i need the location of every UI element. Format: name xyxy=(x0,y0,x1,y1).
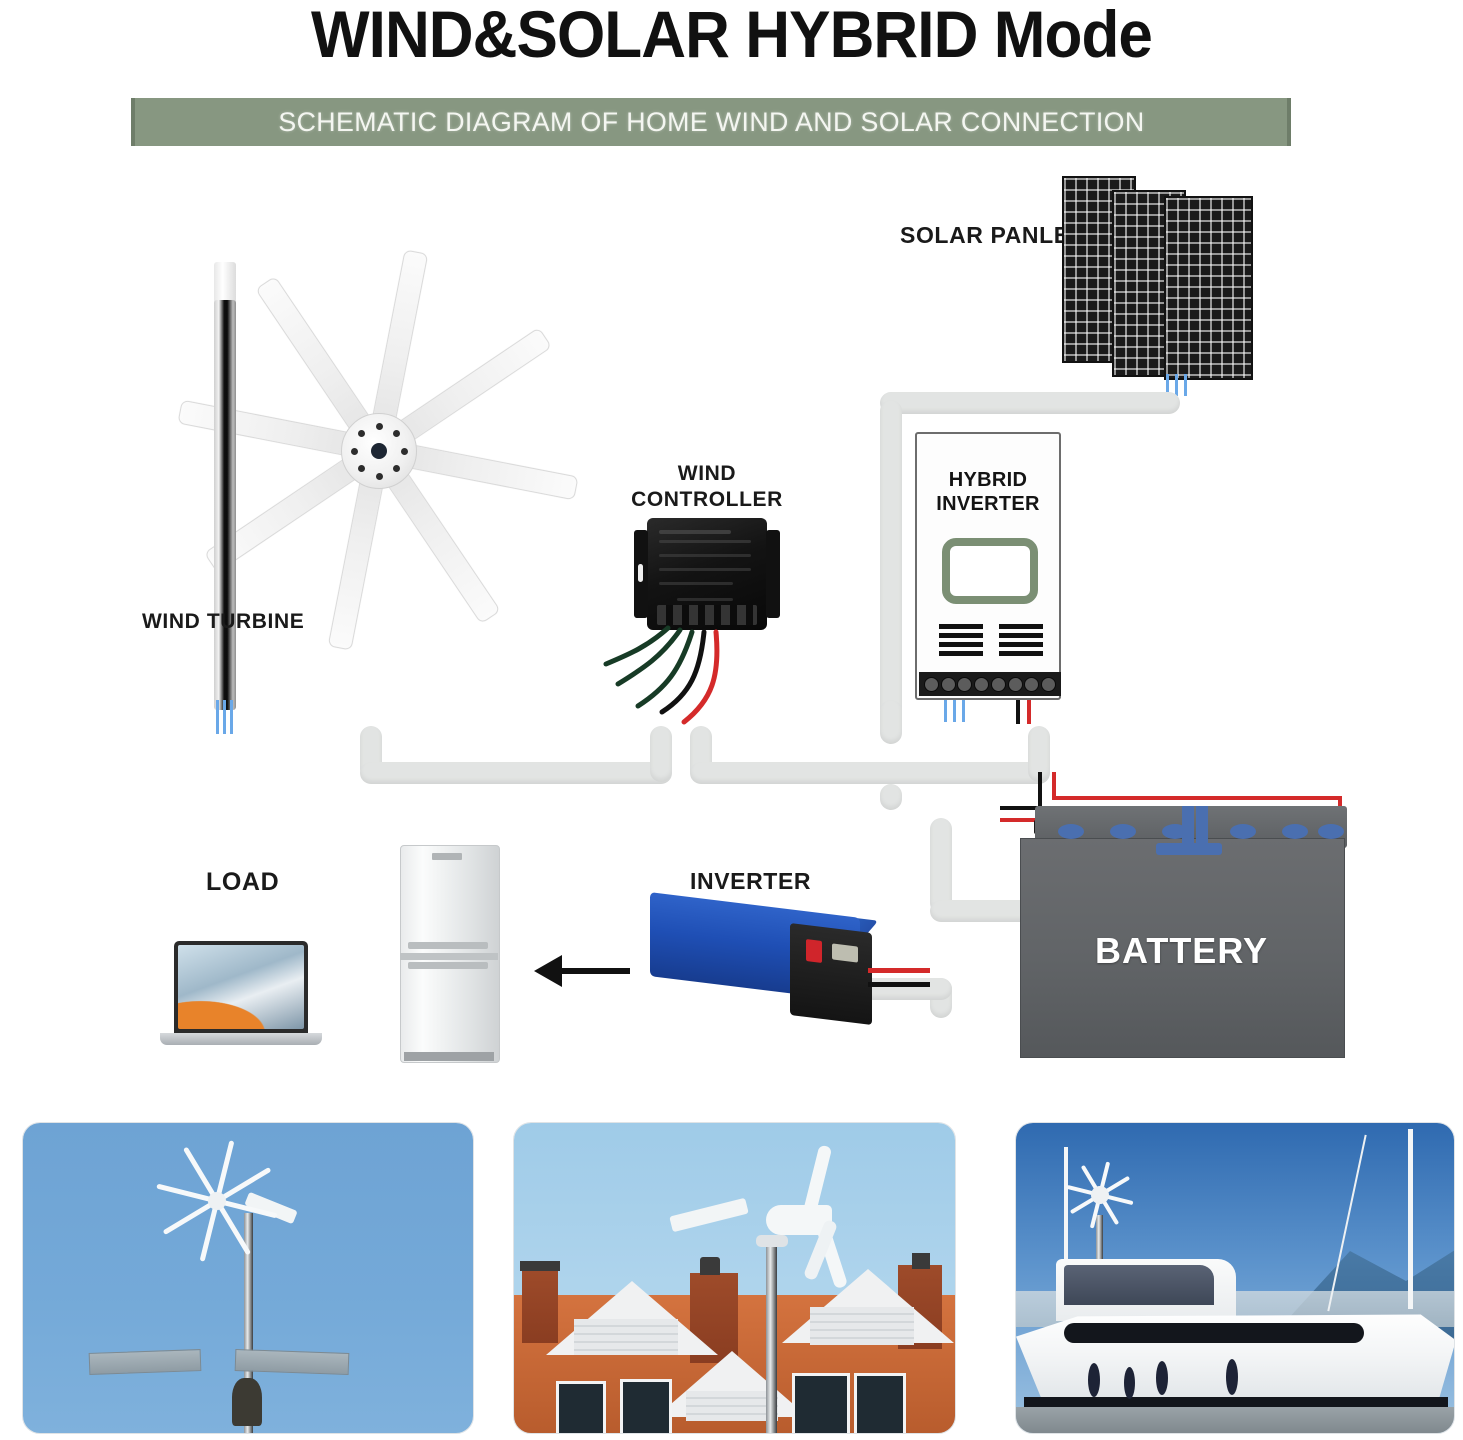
terminal-port xyxy=(991,677,1006,692)
conduit-solar-to-inverter xyxy=(880,392,1180,414)
photo2-gable-siding xyxy=(810,1307,914,1345)
controller-mount-hole-left xyxy=(638,564,643,582)
battery-cell-cap xyxy=(1282,824,1308,839)
battery-positive-wire-run-top xyxy=(1052,796,1342,800)
photo2-gable-siding xyxy=(574,1319,678,1355)
hybrid-inverter-vents-right xyxy=(999,624,1043,660)
terminal-port xyxy=(1008,677,1023,692)
hybrid-inverter-vents-left xyxy=(939,624,983,660)
photo3-hull-stripe xyxy=(1064,1323,1364,1343)
terminal-port xyxy=(924,677,939,692)
inverter-output-negative-wire xyxy=(868,982,930,987)
photo3-fender xyxy=(1088,1363,1100,1397)
turbine-hub-bolt xyxy=(401,448,408,455)
controller-label-line xyxy=(677,598,733,601)
hybrid-inverter-display xyxy=(942,538,1038,604)
refrigerator-handle-lower xyxy=(408,962,488,969)
photo2-turbine-yaw xyxy=(756,1235,788,1247)
photo-marine-yacht-wind-turbine xyxy=(1015,1122,1455,1434)
photo1-generator xyxy=(232,1378,262,1426)
terminal-port xyxy=(1041,677,1056,692)
power-flow-arrow-shaft xyxy=(560,968,630,974)
controller-label-line xyxy=(659,530,731,534)
laptop-base xyxy=(160,1033,322,1045)
hybrid-inverter-body: HYBRID INVERTER xyxy=(915,432,1061,700)
solar-panel-label: SOLAR PANLE xyxy=(900,222,1070,249)
turbine-hub-bolt xyxy=(393,465,400,472)
hybrid-inverter-terminal-block xyxy=(919,672,1061,696)
photo3-windshield xyxy=(1064,1265,1214,1305)
photo3-fender xyxy=(1124,1367,1135,1399)
turbine-hub-bolt xyxy=(358,430,365,437)
hybrid-inverter-negative-wire xyxy=(1016,700,1020,724)
turbine-hub-bolt xyxy=(376,473,383,480)
turbine-mast xyxy=(214,300,236,710)
photo3-water xyxy=(1016,1407,1455,1434)
wind-turbine-label: WIND TURBINE xyxy=(142,610,304,635)
battery-handle-bar xyxy=(1156,843,1222,855)
terminal-port xyxy=(941,677,956,692)
controller-label-line xyxy=(659,540,751,543)
inverter-label: INVERTER xyxy=(690,868,811,895)
turbine-hub-bolt xyxy=(358,465,365,472)
refrigerator-door-divider xyxy=(400,953,498,960)
inverter-display xyxy=(832,943,858,962)
photo1-solar-wing-left xyxy=(89,1349,202,1375)
battery-cell-cap xyxy=(1058,824,1084,839)
laptop-wallpaper xyxy=(178,945,304,1029)
photo-wind-turbine-with-solar-wings-sky xyxy=(22,1122,474,1434)
conduit-turbine-run xyxy=(360,762,672,784)
hybrid-inverter-label-line2: INVERTER xyxy=(917,492,1059,516)
hybrid-inverter-dc-wires xyxy=(940,700,974,722)
page-title: WIND&SOLAR HYBRID Mode xyxy=(44,0,1419,72)
turbine-hub xyxy=(341,413,417,489)
conduit-controller-run xyxy=(690,762,1050,784)
hybrid-inverter-label-line1: HYBRID xyxy=(917,468,1059,492)
wind-controller-body xyxy=(647,518,767,630)
photo2-window xyxy=(556,1381,606,1434)
controller-mount-hole-right xyxy=(771,564,776,582)
controller-wire-bundle xyxy=(600,620,800,730)
load-label: LOAD xyxy=(206,868,279,898)
photo-turbine-hub xyxy=(208,1192,226,1210)
photo3-fender xyxy=(1156,1361,1168,1395)
inverter-front-panel xyxy=(790,923,872,1025)
refrigerator-logo xyxy=(432,853,462,860)
conduit-solar-down xyxy=(880,400,902,720)
controller-label-line xyxy=(659,554,751,557)
refrigerator-base xyxy=(404,1052,494,1061)
controller-label-line xyxy=(659,568,751,571)
turbine-hub-bolt xyxy=(393,430,400,437)
photo3-waterline-stripe xyxy=(1024,1397,1448,1407)
refrigerator-handle-upper xyxy=(408,942,488,949)
battery-cell-cap xyxy=(1110,824,1136,839)
terminal-port xyxy=(957,677,972,692)
photo2-chimney-cap xyxy=(700,1257,720,1275)
turbine-output-wires xyxy=(213,700,237,734)
photo2-chimney-cap xyxy=(520,1261,560,1271)
photo2-window xyxy=(792,1373,850,1434)
inverter-output-positive-wire xyxy=(868,968,930,973)
photo2-window xyxy=(620,1379,672,1434)
battery-cell-cap xyxy=(1230,824,1256,839)
photo2-chimney-cap xyxy=(912,1253,930,1269)
turbine-hub-bolt xyxy=(376,423,383,430)
terminal-port xyxy=(1024,677,1039,692)
controller-label-line xyxy=(659,582,733,585)
photo3-fender xyxy=(1226,1359,1238,1395)
photo-turbine-hub xyxy=(1091,1186,1109,1204)
photo-strip xyxy=(0,1122,1463,1440)
inverter-power-switch[interactable] xyxy=(806,939,822,963)
turbine-hub-core xyxy=(371,443,387,459)
battery-cell-cap xyxy=(1318,824,1344,839)
photo3-antenna xyxy=(1064,1147,1068,1277)
subtitle-banner: SCHEMATIC DIAGRAM OF HOME WIND AND SOLAR… xyxy=(131,98,1291,146)
photo1-solar-wing-right xyxy=(235,1349,350,1375)
battery-label: BATTERY xyxy=(1020,930,1343,972)
wind-controller-label-line1: WIND xyxy=(622,462,792,487)
subtitle-text: SCHEMATIC DIAGRAM OF HOME WIND AND SOLAR… xyxy=(278,107,1144,138)
photo2-window xyxy=(854,1373,906,1434)
conduit-inverter-dc-low xyxy=(880,784,902,810)
wind-controller-label-line2: CONTROLLER xyxy=(622,488,792,513)
hybrid-inverter-positive-wire xyxy=(1027,700,1031,724)
photo3-sail-mast xyxy=(1408,1129,1413,1309)
photo-rooftop-wind-turbine-houses xyxy=(513,1122,956,1434)
solar-panel-item xyxy=(1164,196,1253,380)
schematic-page: WIND&SOLAR HYBRID Mode SCHEMATIC DIAGRAM… xyxy=(0,0,1463,1440)
terminal-port xyxy=(974,677,989,692)
photo2-gable-siding xyxy=(686,1391,778,1421)
conduit-to-controller-in xyxy=(650,726,672,782)
turbine-hub-bolt xyxy=(351,448,358,455)
photo2-turbine-mast xyxy=(766,1241,777,1434)
conduit-inverter-dc-down xyxy=(880,700,902,744)
power-flow-arrow-head xyxy=(534,955,562,987)
laptop-screen xyxy=(174,941,308,1033)
